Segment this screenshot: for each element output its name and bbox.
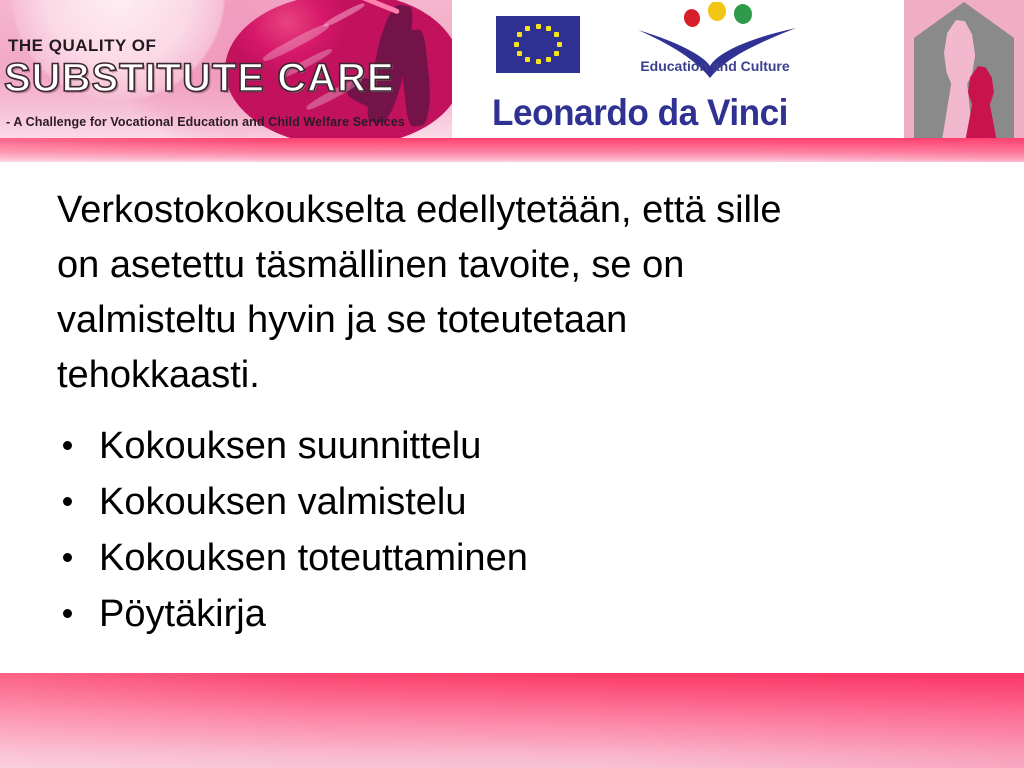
photo-shape [398, 29, 434, 127]
slide-root: THE QUALITY OF SUBSTITUTE CARE - A Chall… [0, 0, 1024, 768]
list-item: Kokouksen toteuttaminen [57, 530, 957, 586]
list-item: Kokouksen suunnittelu [57, 418, 957, 474]
body-paragraph: Verkostokokoukselta edellytetään, että s… [57, 183, 937, 403]
bullet-list: Kokouksen suunnittelu Kokouksen valmiste… [57, 418, 957, 642]
bullet-dot-icon [63, 497, 72, 506]
top-pink-band [0, 138, 1024, 162]
list-item: Kokouksen valmistelu [57, 474, 957, 530]
bottom-pink-band [0, 673, 1024, 768]
slide-content: Verkostokokoukselta edellytetään, että s… [0, 162, 1024, 673]
list-item-label: Kokouksen valmistelu [99, 481, 467, 523]
list-item-label: Kokouksen suunnittelu [99, 425, 481, 467]
header-logo-area: Education and Culture Leonardo da Vinci [452, 0, 904, 140]
leonardo-da-vinci-wordmark: Leonardo da Vinci [492, 92, 788, 134]
photo-highlight [322, 2, 365, 29]
slide-header: THE QUALITY OF SUBSTITUTE CARE - A Chall… [0, 0, 1024, 140]
header-subtitle-text: - A Challenge for Vocational Education a… [6, 115, 405, 129]
education-and-culture-caption: Education and Culture [600, 58, 830, 74]
bullet-dot-icon [63, 553, 72, 562]
header-right-emblem [904, 0, 1024, 140]
header-main-title: SUBSTITUTE CARE [4, 56, 395, 101]
bullet-dot-icon [63, 441, 72, 450]
list-item-label: Pöytäkirja [99, 593, 266, 635]
list-item: Pöytäkirja [57, 586, 957, 642]
header-kicker-text: THE QUALITY OF [8, 36, 156, 56]
header-left-banner: THE QUALITY OF SUBSTITUTE CARE - A Chall… [0, 0, 452, 140]
bullet-dot-icon [63, 609, 72, 618]
european-union-flag-icon [496, 16, 580, 73]
education-and-culture-swoosh-icon [600, 2, 830, 88]
list-item-label: Kokouksen toteuttaminen [99, 537, 528, 579]
